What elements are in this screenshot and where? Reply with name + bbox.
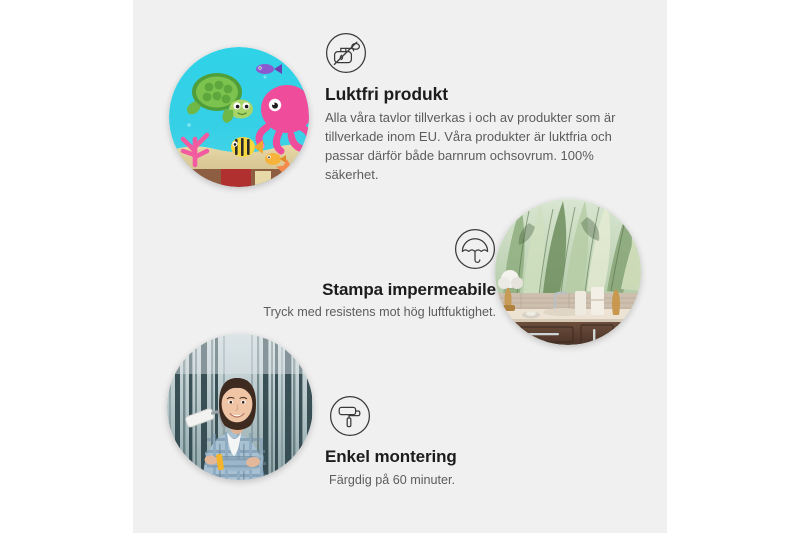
umbrella-icon	[454, 228, 496, 270]
waterproof-icon-row	[163, 228, 496, 275]
circular-photo-aquarium	[169, 47, 309, 187]
no-fragrance-icon	[325, 32, 367, 74]
feature-assembly: Enkel montering Färgdig på 60 minuter.	[325, 395, 545, 490]
feature-title: Enkel montering	[325, 447, 545, 467]
paint-roller-icon	[329, 395, 371, 437]
feature-body: Tryck med resistens mot hög luftfuktighe…	[163, 303, 496, 321]
feature-waterproof: Stampa impermeabile Tryck med resistens …	[163, 228, 496, 322]
feature-body: Färgdig på 60 minuter.	[325, 471, 545, 489]
feature-title: Luktfri produkt	[325, 84, 621, 105]
feature-title: Stampa impermeabile	[163, 280, 496, 300]
promo-banner: Luktfri produkt Alla våra tavlor tillver…	[0, 0, 800, 533]
circular-photo-painter	[167, 334, 313, 480]
feature-odorless: Luktfri produkt Alla våra tavlor tillver…	[325, 32, 621, 184]
content-panel: Luktfri produkt Alla våra tavlor tillver…	[133, 0, 667, 533]
circular-photo-bathroom	[495, 199, 641, 345]
feature-body: Alla våra tavlor tillverkas i och av pro…	[325, 109, 621, 184]
